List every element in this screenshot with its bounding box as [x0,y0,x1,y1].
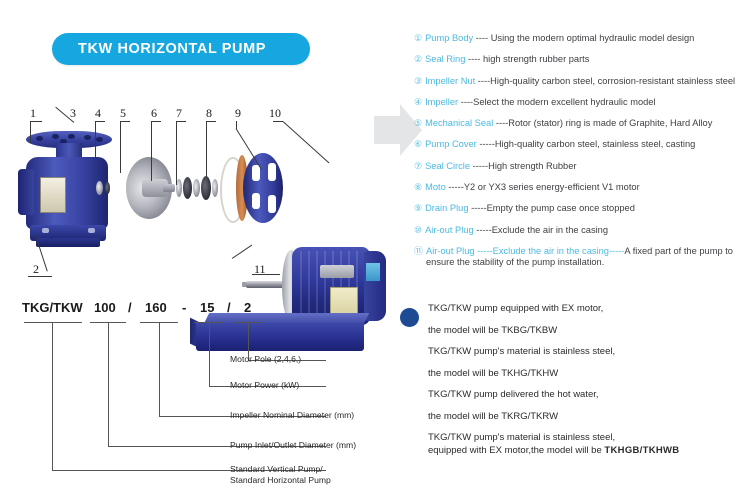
legend-desc: High-quality carbon steel, corrosion-res… [490,76,735,86]
callout-8: 8 [206,106,212,121]
note-line: the model will be TKHG/TKHW [428,368,753,379]
mechanical-seal-ring [183,177,192,199]
legend-desc: Using the modern optimal hydraulic model… [491,33,695,43]
legend-dash: ----- [609,246,624,256]
legend-part-name: Air-out Plug [425,225,474,235]
legend-desc: Empty the pump case once stopped [487,203,635,213]
callout-4: 4 [95,106,101,121]
model-code-separator: - [182,300,186,315]
legend-item: ⑧ Moto -----Y2 or YX3 series energy-effi… [414,182,756,193]
callout-1: 1 [30,106,36,121]
seal-ring-part [96,181,103,195]
motor-terminal-box [320,265,354,278]
note-text: equipped with EX motor,the model will be [428,445,604,456]
model-label-motor-power: Motor Power (kW) [230,380,299,391]
mechanical-seal-washer [193,179,200,197]
legend-number: ③ [414,76,422,87]
legend-dash: ----- [469,203,487,213]
callout-6: 6 [151,106,157,121]
legend-part-name: Impeller [425,97,458,107]
legend-part-name: Moto [425,182,446,192]
mechanical-seal-ring [201,176,211,200]
note-line: the model will be TKBG/TKBW [428,325,753,336]
legend-desc: Select the modern excellent hydraulic mo… [473,97,655,107]
legend-number: ① [414,33,422,44]
legend-number: ④ [414,97,422,108]
model-code-segment: 100 [94,300,116,315]
legend-dash: ----- [446,182,464,192]
legend-number: ② [414,54,422,65]
legend-dash: ---- [458,97,473,107]
legend-part-name: Seal Ring [425,54,465,64]
bullet-dot-icon [400,308,419,327]
legend-dash: ---- [473,33,491,43]
model-label-motor-pole: Motor Pole (2,4,6,) [230,354,301,365]
legend-item: ① Pump Body ---- Using the modern optima… [414,33,756,44]
model-code-segment: 15 [200,300,214,315]
legend-item: ④ Impeller ----Select the modern excelle… [414,97,756,108]
note-line: TKG/TKW pump's material is stainless ste… [428,346,753,357]
legend-item: ⑨ Drain Plug -----Empty the pump case on… [414,203,756,214]
legend-desc: high strength rubber parts [483,54,589,64]
motor-sticker [366,263,380,281]
legend-part-name: Seal Circle [425,161,470,171]
page-title-banner: TKW HORIZONTAL PUMP [52,33,310,65]
model-label-inlet-diameter: Pump Inlet/Outlet Diameter (mm) [230,440,356,451]
legend-dash: ---- [465,54,483,64]
legend-item: ⑤ Mechanical Seal ----Rotor (stator) rin… [414,118,756,129]
model-code-breakdown: TKG/TKW 100 / 160 - 15 / 2 Motor Pole (2… [22,300,392,495]
model-code-segment: 2 [244,300,251,315]
legend-number: ⑨ [414,203,422,214]
legend-number: ⑪ [414,246,423,257]
legend-number: ⑤ [414,118,422,129]
legend-desc: Y2 or YX3 series energy-efficient V1 mot… [464,182,640,192]
legend-part-name: Pump Cover [425,139,477,149]
legend-item: ② Seal Ring ---- high strength rubber pa… [414,54,756,65]
legend-dash: ----- [477,139,495,149]
note-line: TKG/TKW pump's material is stainless ste… [428,432,753,443]
legend-item: ⑦ Seal Circle -----High strength Rubber [414,161,756,172]
legend-dash: ----- [474,225,492,235]
pump-foot-bolt [88,228,95,233]
legend-dash: ----- [470,161,488,171]
note-line: TKG/TKW pump delivered the hot water, [428,389,753,400]
legend-dash: ---- [493,118,508,128]
legend-item: ⑪ Air-out Plug -----Exclude the air in t… [414,246,756,268]
mechanical-seal-washer [212,179,218,197]
legend-desc: Rotor (stator) ring is made of Graphite,… [508,118,712,128]
legend-part-name: Mechanical Seal [425,118,493,128]
exploded-diagram [0,95,380,290]
model-code-separator: / [227,300,231,315]
legend-number: ⑥ [414,139,422,150]
callout-5: 5 [120,106,126,121]
model-label-standard-vertical: Standard Vertical Pump/ [230,464,323,475]
legend-part-name: Air-out Plug -----Exclude the air in the… [426,246,609,256]
note-line: the model will be TKRG/TKRW [428,411,753,422]
model-code-separator: / [128,300,132,315]
impeller-nut-part [105,182,110,194]
legend-number: ⑩ [414,225,422,236]
model-label-standard-horizontal: Standard Horizontal Pump [230,475,331,486]
legend-number: ⑦ [414,161,422,172]
pump-suction-flange [18,169,34,215]
legend-desc: High-quality carbon steel, stainless ste… [495,139,696,149]
pump-foot-bolt [42,228,49,233]
callout-7: 7 [176,106,182,121]
callout-2: 2 [33,262,39,277]
model-code-segment: TKG/TKW [22,300,83,315]
legend-desc: High strength Rubber [488,161,576,171]
legend-desc: Exclude the air in the casing [492,225,608,235]
legend-part-name: Impeller Nut [425,76,475,86]
model-label-impeller-diameter: Impeller Nominal Diameter (mm) [230,410,354,421]
note-line: TKG/TKW pump equipped with EX motor, [428,303,753,314]
model-code-segment: 160 [145,300,167,315]
legend-dash: ---- [475,76,490,86]
parts-legend: ① Pump Body ---- Using the modern optima… [414,33,756,278]
callout-10: 10 [269,106,281,121]
page-title: TKW HORIZONTAL PUMP [78,41,266,57]
pump-foot-base [36,238,100,247]
legend-part-name: Pump Body [425,33,473,43]
legend-number: ⑧ [414,182,422,193]
legend-item: ⑥ Pump Cover -----High-quality carbon st… [414,139,756,150]
note-bold-model: TKHGB/TKHWB [604,445,679,456]
pump-nameplate [40,177,66,213]
legend-item: ⑩ Air-out Plug -----Exclude the air in t… [414,225,756,236]
note-line-last: equipped with EX motor,the model will be… [428,445,753,456]
legend-item: ③ Impeller Nut ----High-quality carbon s… [414,76,756,87]
legend-part-name: Drain Plug [425,203,468,213]
callout-9: 9 [235,106,241,121]
page-root: TKW HORIZONTAL PUMP [0,0,756,500]
